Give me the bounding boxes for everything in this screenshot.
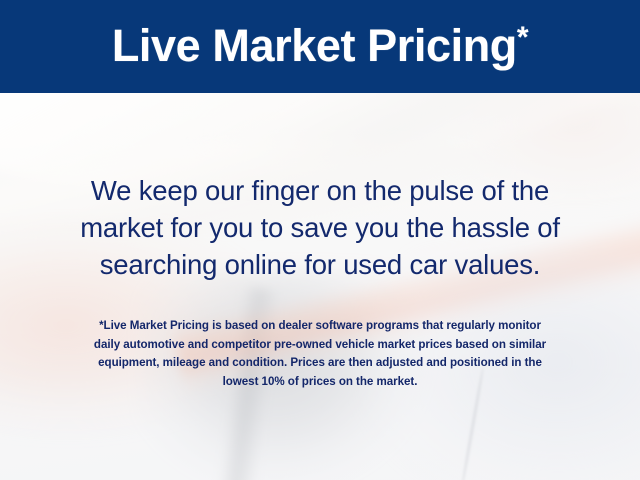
disclaimer-text: *Live Market Pricing is based on dealer …	[24, 317, 616, 391]
live-market-pricing-banner: Live Market Pricing* We keep our finger …	[0, 0, 640, 480]
page-title: Live Market Pricing*	[112, 23, 528, 71]
headline-line: searching online for used car values.	[24, 246, 616, 283]
disclaimer-line: daily automotive and competitor pre-owne…	[24, 336, 616, 355]
header-bar: Live Market Pricing*	[0, 0, 640, 93]
content-area: We keep our finger on the pulse of the m…	[0, 93, 640, 480]
disclaimer-line: equipment, mileage and condition. Prices…	[24, 354, 616, 373]
disclaimer-line: *Live Market Pricing is based on dealer …	[24, 317, 616, 336]
page-title-footnote-marker: *	[517, 21, 528, 54]
headline-line: market for you to save you the hassle of	[24, 209, 616, 246]
headline-line: We keep our finger on the pulse of the	[24, 172, 616, 209]
headline: We keep our finger on the pulse of the m…	[24, 172, 616, 283]
page-title-text: Live Market Pricing	[112, 20, 517, 71]
disclaimer-line: lowest 10% of prices on the market.	[24, 373, 616, 392]
